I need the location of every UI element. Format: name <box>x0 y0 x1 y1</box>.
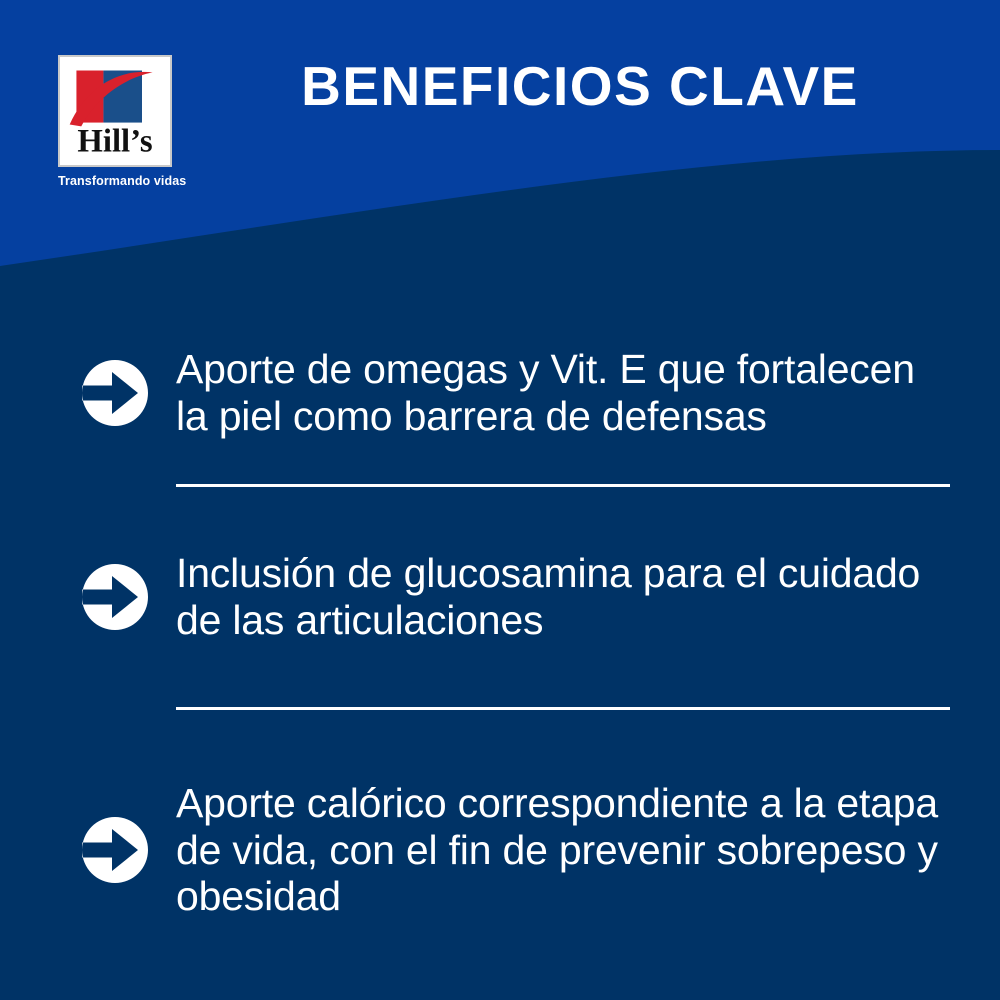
page-title: BENEFICIOS CLAVE <box>180 58 980 116</box>
benefit-item: Inclusión de glucosamina para el cuidado… <box>0 522 1000 672</box>
benefit-text: Inclusión de glucosamina para el cuidado… <box>176 550 955 643</box>
brand-logo: Hill’s Transformando vidas <box>58 55 180 188</box>
benefit-text: Aporte calórico correspondiente a la eta… <box>176 780 955 920</box>
benefit-divider <box>176 707 950 710</box>
logo-box: Hill’s <box>58 55 172 167</box>
arrow-right-circle-icon <box>82 360 148 426</box>
benefit-divider <box>176 484 950 487</box>
arrow-right-circle-icon <box>82 564 148 630</box>
benefit-item: Aporte de omegas y Vit. E que fortalecen… <box>0 295 1000 490</box>
logo-tagline: Transformando vidas <box>58 174 180 188</box>
benefits-slide: Hill’s Transformando vidas BENEFICIOS CL… <box>0 0 1000 1000</box>
benefit-text: Aporte de omegas y Vit. E que fortalecen… <box>176 346 955 439</box>
logo-wordmark: Hill’s <box>77 124 152 160</box>
hills-logo-icon: Hill’s <box>60 57 170 165</box>
arrow-right-circle-icon <box>82 817 148 883</box>
benefit-item: Aporte calórico correspondiente a la eta… <box>0 750 1000 950</box>
